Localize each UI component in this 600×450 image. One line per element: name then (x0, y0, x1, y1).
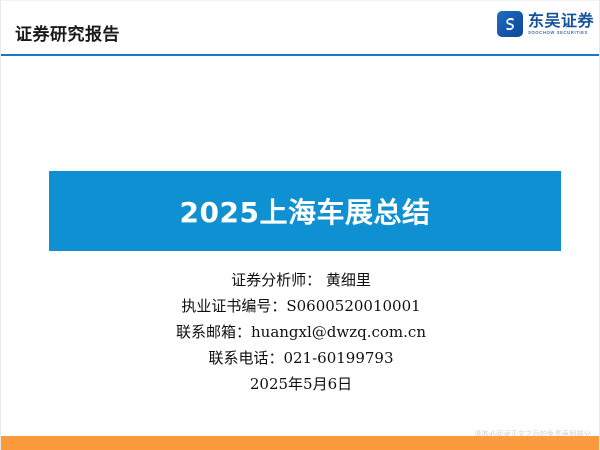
analyst-info-block: 证券分析师： 黄细里 执业证书编号：S0600520010001 联系邮箱：hu… (1, 267, 600, 397)
slide-header: 证券研究报告 东吴证券 SOOCHOW SECURITIES (1, 1, 600, 55)
date-line: 2025年5月6日 (1, 371, 600, 397)
report-title: 2025上海车展总结 (180, 191, 431, 231)
logo-name-cn: 东吴证券 (528, 13, 594, 29)
analyst-name-line: 证券分析师： 黄细里 (1, 267, 600, 293)
report-cover-slide: 证券研究报告 东吴证券 SOOCHOW SECURITIES 2025上海车展总… (0, 0, 600, 450)
page-title: 证券研究报告 (15, 20, 120, 45)
title-banner: 2025上海车展总结 (49, 171, 561, 251)
company-logo: 东吴证券 SOOCHOW SECURITIES (497, 11, 594, 37)
phone-line: 联系电话：021-60199793 (1, 345, 600, 371)
footer-accent-bar (1, 436, 600, 450)
logo-wordmark: 东吴证券 SOOCHOW SECURITIES (528, 13, 594, 35)
logo-name-en: SOOCHOW SECURITIES (528, 31, 595, 35)
soochow-swirl-logo-icon (497, 11, 523, 37)
license-number-line: 执业证书编号：S0600520010001 (1, 293, 600, 319)
header-divider (1, 54, 600, 56)
email-line: 联系邮箱：huangxl@dwzq.com.cn (1, 319, 600, 345)
